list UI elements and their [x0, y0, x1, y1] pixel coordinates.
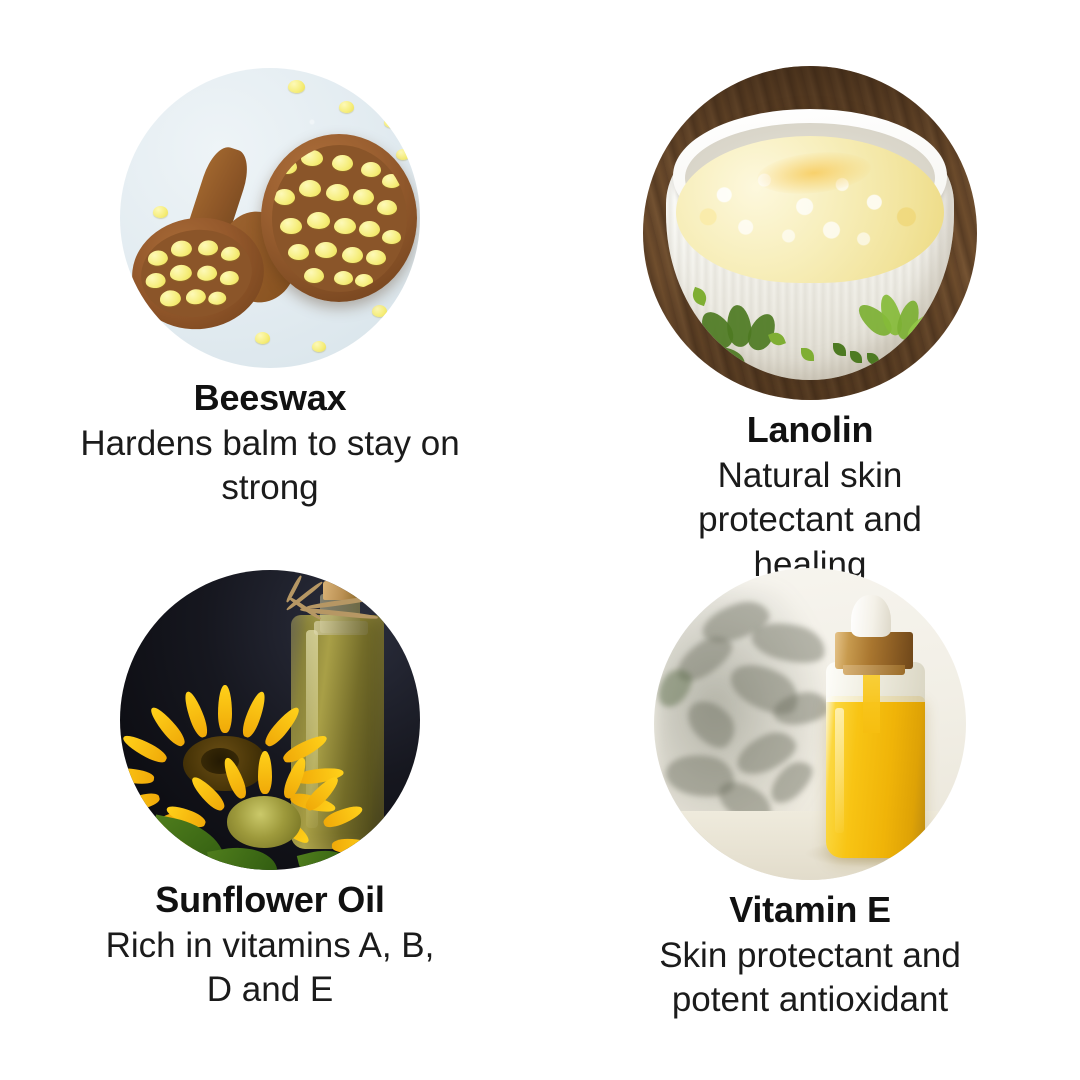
ingredient-title: Beeswax — [194, 376, 347, 420]
vitamin-e-image — [654, 568, 966, 880]
beeswax-image — [120, 68, 420, 368]
sunflower-oil-image — [120, 570, 420, 870]
ingredient-title: Vitamin E — [729, 888, 891, 932]
ingredient-description: Rich in vitamins A, B, D and E — [90, 924, 450, 1013]
ingredient-card-vitamin-e: Vitamin E Skin protectant and potent ant… — [540, 540, 1080, 1080]
ingredient-title: Lanolin — [747, 408, 874, 452]
ingredient-card-lanolin: Lanolin Natural skin protectant and heal… — [540, 0, 1080, 540]
ingredient-card-beeswax: Beeswax Hardens balm to stay on strong — [0, 0, 540, 540]
ingredient-card-sunflower-oil: Sunflower Oil Rich in vitamins A, B, D a… — [0, 540, 540, 1080]
ingredient-description: Hardens balm to stay on strong — [70, 422, 470, 511]
ingredient-description: Skin protectant and potent antioxidant — [610, 934, 1010, 1023]
lanolin-image — [643, 66, 977, 400]
ingredient-benefits-grid: Beeswax Hardens balm to stay on strong — [0, 0, 1080, 1080]
ingredient-title: Sunflower Oil — [155, 878, 384, 922]
